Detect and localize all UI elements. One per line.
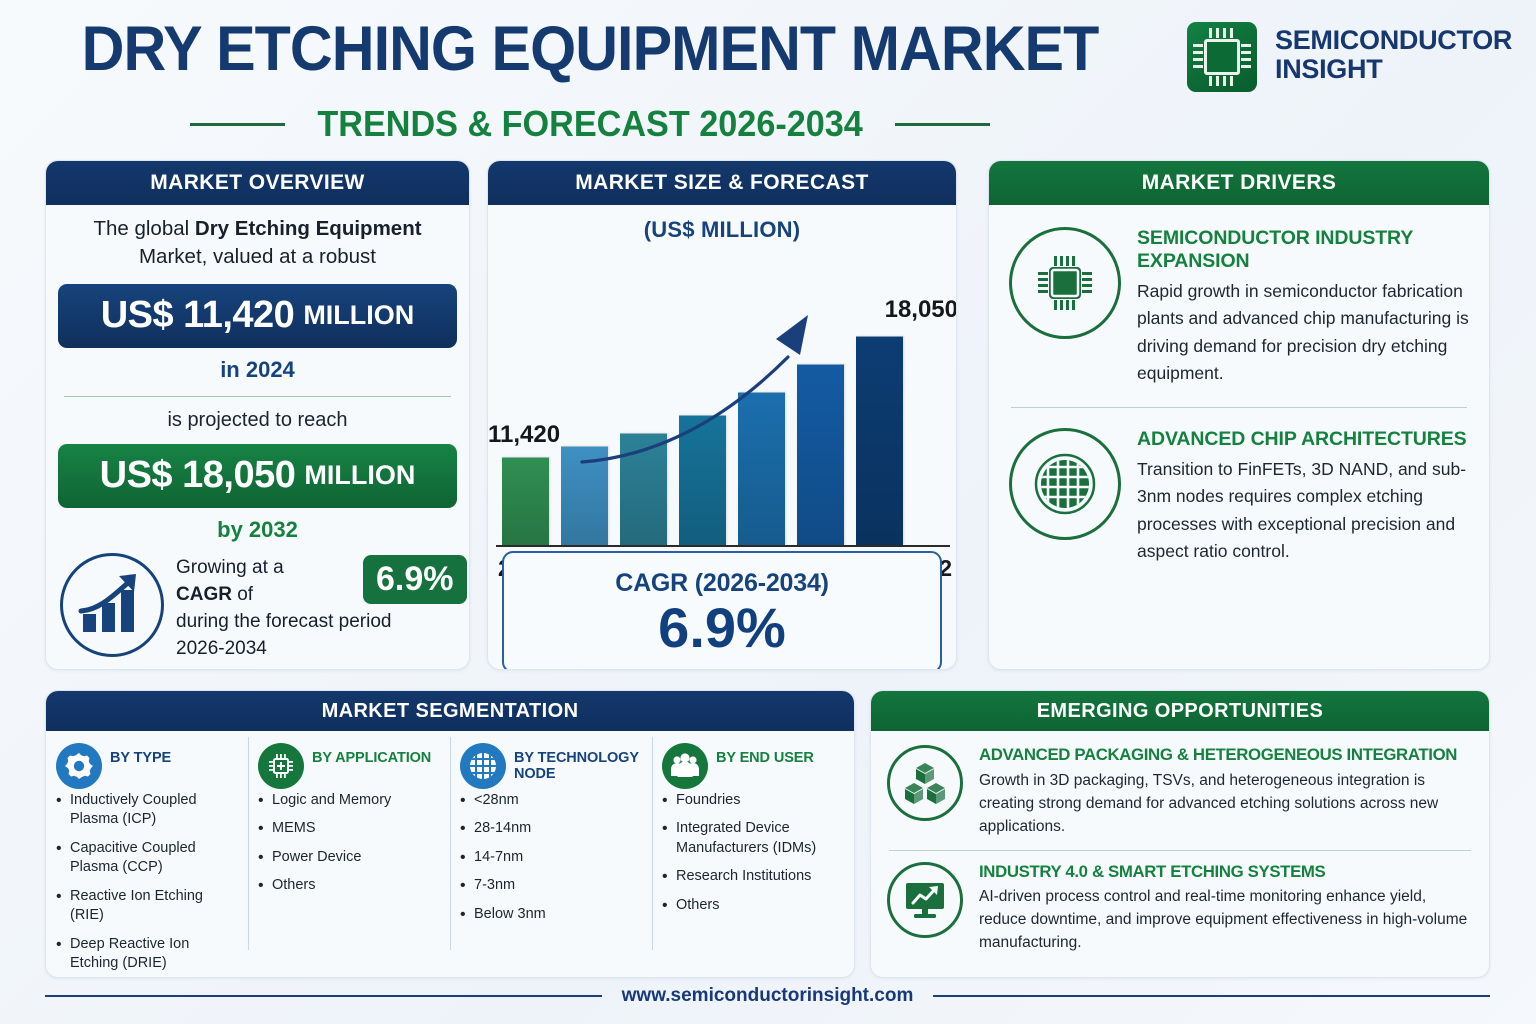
brand-logo — [1187, 22, 1257, 92]
bar-value-label-first: 11,420 — [488, 421, 560, 449]
segment-title-by-type: BY TYPE — [110, 750, 171, 766]
bar-2032 — [856, 336, 903, 545]
value-badge-2024: US$ 11,420 MILLION — [58, 284, 457, 348]
list-item: Below 3nm — [460, 905, 642, 924]
bar-value-label-last: 18,050 — [885, 296, 957, 324]
segment-title-by-application: BY APPLICATION — [312, 750, 431, 766]
panel-market-drivers: MARKET DRIVERS — [988, 160, 1490, 670]
list-item: 7-3nm — [460, 876, 642, 895]
microchip-icon — [1009, 227, 1121, 339]
opportunity-item-2: INDUSTRY 4.0 & SMART ETCHING SYSTEMS AI-… — [887, 862, 1473, 956]
cagr-badge: 6.9% — [363, 555, 467, 604]
list-item: Others — [662, 896, 844, 915]
cagr-line-3: 2026-2034 — [176, 636, 391, 663]
driver-item-1: SEMICONDUCTOR INDUSTRY EXPANSION Rapid g… — [1009, 227, 1469, 387]
panel-market-overview: MARKET OVERVIEW The global Dry Etching E… — [45, 160, 470, 670]
overview-projection-text: is projected to reach — [46, 409, 469, 432]
chip-icon — [258, 743, 304, 789]
subtitle-row: TRENDS & FORECAST 2026-2034 — [45, 103, 1135, 145]
overview-lead-prefix: The global — [93, 217, 194, 240]
segment-column-by-end-user: BY END USER Foundries Integrated Device … — [652, 731, 854, 966]
list-item: MEMS — [258, 819, 440, 838]
opportunities-divider — [889, 850, 1471, 851]
list-item: 28-14nm — [460, 819, 642, 838]
segment-column-by-technology-node: BY TECHNOLOGY NODE <28nm 28-14nm 14-7nm … — [450, 731, 652, 966]
bar-2027 — [679, 415, 726, 545]
page-subtitle: TRENDS & FORECAST 2026-2034 — [317, 103, 862, 145]
list-item: Logic and Memory — [258, 791, 440, 810]
cagr-line-1: Growing at a — [176, 557, 284, 578]
segment-list-by-type: Inductively Coupled Plasma (ICP) Capacit… — [56, 791, 238, 978]
panel-header-emerging-opportunities: EMERGING OPPORTUNITIES — [871, 691, 1489, 731]
opportunity-body-2: AI-driven process control and real-time … — [979, 886, 1473, 955]
list-item: Capacitive Coupled Plasma (CCP) — [56, 839, 238, 878]
list-item: Research Institutions — [662, 867, 844, 886]
opportunity-item-1: ADVANCED PACKAGING & HETEROGENEOUS INTEG… — [887, 745, 1473, 839]
opportunity-title-2: INDUSTRY 4.0 & SMART ETCHING SYSTEMS — [979, 862, 1473, 882]
list-item: Deep Reactive Ion Etching (DRIE) — [56, 935, 238, 974]
value-badge-2032: US$ 18,050 MILLION — [58, 444, 457, 508]
list-item: Power Device — [258, 848, 440, 867]
brand-line-1: SEMICONDUCTOR — [1275, 26, 1525, 55]
bar-2029 — [797, 364, 844, 545]
page-title: DRY ETCHING EQUIPMENT MARKET — [78, 18, 1103, 81]
panel-market-segmentation: MARKET SEGMENTATION BY TYPE Inductively … — [45, 690, 855, 978]
overview-lead-bold: Dry Etching Equipment — [195, 217, 422, 240]
cagr-box-value: 6.9% — [658, 600, 786, 656]
panel-header-market-segmentation: MARKET SEGMENTATION — [46, 691, 854, 731]
stacked-cubes-icon — [887, 745, 963, 821]
overview-lead-suffix: Market, valued at a robust — [139, 245, 376, 268]
list-item: <28nm — [460, 791, 642, 810]
value-2032-amount: US$ 18,050 — [100, 454, 296, 497]
driver-item-2: ADVANCED CHIP ARCHITECTURES Transition t… — [1009, 428, 1469, 565]
opportunity-body-1: Growth in 3D packaging, TSVs, and hetero… — [979, 770, 1473, 839]
segment-list-by-application: Logic and Memory MEMS Power Device Other… — [258, 791, 440, 896]
infographic-page: DRY ETCHING EQUIPMENT MARKET TRENDS & FO… — [0, 0, 1536, 1024]
year-label-2024: in 2024 — [46, 357, 469, 383]
driver-title-2: ADVANCED CHIP ARCHITECTURES — [1137, 428, 1469, 451]
overview-lead: The global Dry Etching Equipment Market,… — [46, 205, 469, 272]
cagr-line-1-tail: of — [232, 584, 253, 605]
year-label-2032: by 2032 — [46, 517, 469, 543]
wafer-grid-icon — [460, 743, 506, 789]
cagr-row: Growing at a CAGR of during the forecast… — [60, 549, 455, 663]
list-item: Inductively Coupled Plasma (ICP) — [56, 791, 238, 830]
panel-header-market-size-forecast: MARKET SIZE & FORECAST — [488, 161, 956, 205]
brand-line-2: INSIGHT — [1275, 55, 1525, 84]
bar-2024 — [502, 457, 549, 545]
microchip-icon — [1187, 22, 1257, 92]
gear-icon — [56, 743, 102, 789]
list-item: Integrated Device Manufacturers (IDMs) — [662, 819, 844, 858]
growth-bar-chart-icon — [60, 553, 164, 657]
list-item: Foundries — [662, 791, 844, 810]
driver-body-2: Transition to FinFETs, 3D NAND, and sub-… — [1137, 456, 1469, 565]
panel-market-size-forecast: MARKET SIZE & FORECAST (US$ MILLION) 11,… — [487, 160, 957, 670]
cagr-description: Growing at a CAGR of during the forecast… — [176, 549, 391, 663]
value-2024-unit: MILLION — [303, 300, 414, 331]
brand-name: SEMICONDUCTOR INSIGHT — [1275, 26, 1525, 84]
monitor-trend-icon — [887, 862, 963, 938]
segment-list-by-end-user: Foundries Integrated Device Manufacturer… — [662, 791, 844, 915]
chart-baseline — [496, 545, 950, 547]
footer-rule-right — [933, 995, 1490, 997]
bar-2025 — [561, 446, 608, 545]
value-2024-amount: US$ 11,420 — [101, 294, 295, 337]
list-item: Others — [258, 876, 440, 895]
segmentation-columns: BY TYPE Inductively Coupled Plasma (ICP)… — [46, 731, 854, 966]
cagr-box-label: CAGR (2026-2034) — [615, 569, 829, 598]
segment-list-by-technology-node: <28nm 28-14nm 14-7nm 7-3nm Below 3nm — [460, 791, 642, 924]
subtitle-rule-right — [895, 123, 990, 126]
chart-unit-label: (US$ MILLION) — [488, 217, 956, 243]
footer: www.semiconductorinsight.com — [45, 985, 1490, 1007]
bar-chart: 11,420 18,050 2024 2032 — [488, 247, 956, 547]
wafer-grid-icon — [1009, 428, 1121, 540]
cagr-bold: CAGR — [176, 584, 232, 605]
overview-divider — [64, 396, 451, 397]
users-icon — [662, 743, 708, 789]
cagr-line-2: during the forecast period — [176, 609, 391, 636]
segment-column-by-application: BY APPLICATION Logic and Memory MEMS Pow… — [248, 731, 450, 966]
bar-2026 — [620, 433, 667, 545]
opportunity-title-1: ADVANCED PACKAGING & HETEROGENEOUS INTEG… — [979, 745, 1473, 765]
panel-header-market-overview: MARKET OVERVIEW — [46, 161, 469, 205]
value-2032-unit: MILLION — [304, 460, 415, 491]
segment-title-by-end-user: BY END USER — [716, 750, 814, 766]
footer-rule-left — [45, 995, 602, 997]
bar-2028 — [738, 392, 785, 545]
cagr-summary-box: CAGR (2026-2034) 6.9% — [502, 551, 942, 670]
list-item: Reactive Ion Etching (RIE) — [56, 887, 238, 926]
list-item: 14-7nm — [460, 848, 642, 867]
chip-core — [1204, 39, 1240, 75]
panel-header-market-drivers: MARKET DRIVERS — [989, 161, 1489, 205]
segment-column-by-type: BY TYPE Inductively Coupled Plasma (ICP)… — [46, 731, 248, 966]
segment-title-by-technology-node: BY TECHNOLOGY NODE — [514, 750, 642, 782]
driver-title-1: SEMICONDUCTOR INDUSTRY EXPANSION — [1137, 227, 1469, 273]
driver-body-1: Rapid growth in semiconductor fabricatio… — [1137, 278, 1469, 387]
footer-url[interactable]: www.semiconductorinsight.com — [622, 985, 914, 1007]
panel-emerging-opportunities: EMERGING OPPORTUNITIES ADVANCED PACKAGIN… — [870, 690, 1490, 978]
subtitle-rule-left — [190, 123, 285, 126]
drivers-divider — [1011, 407, 1467, 408]
